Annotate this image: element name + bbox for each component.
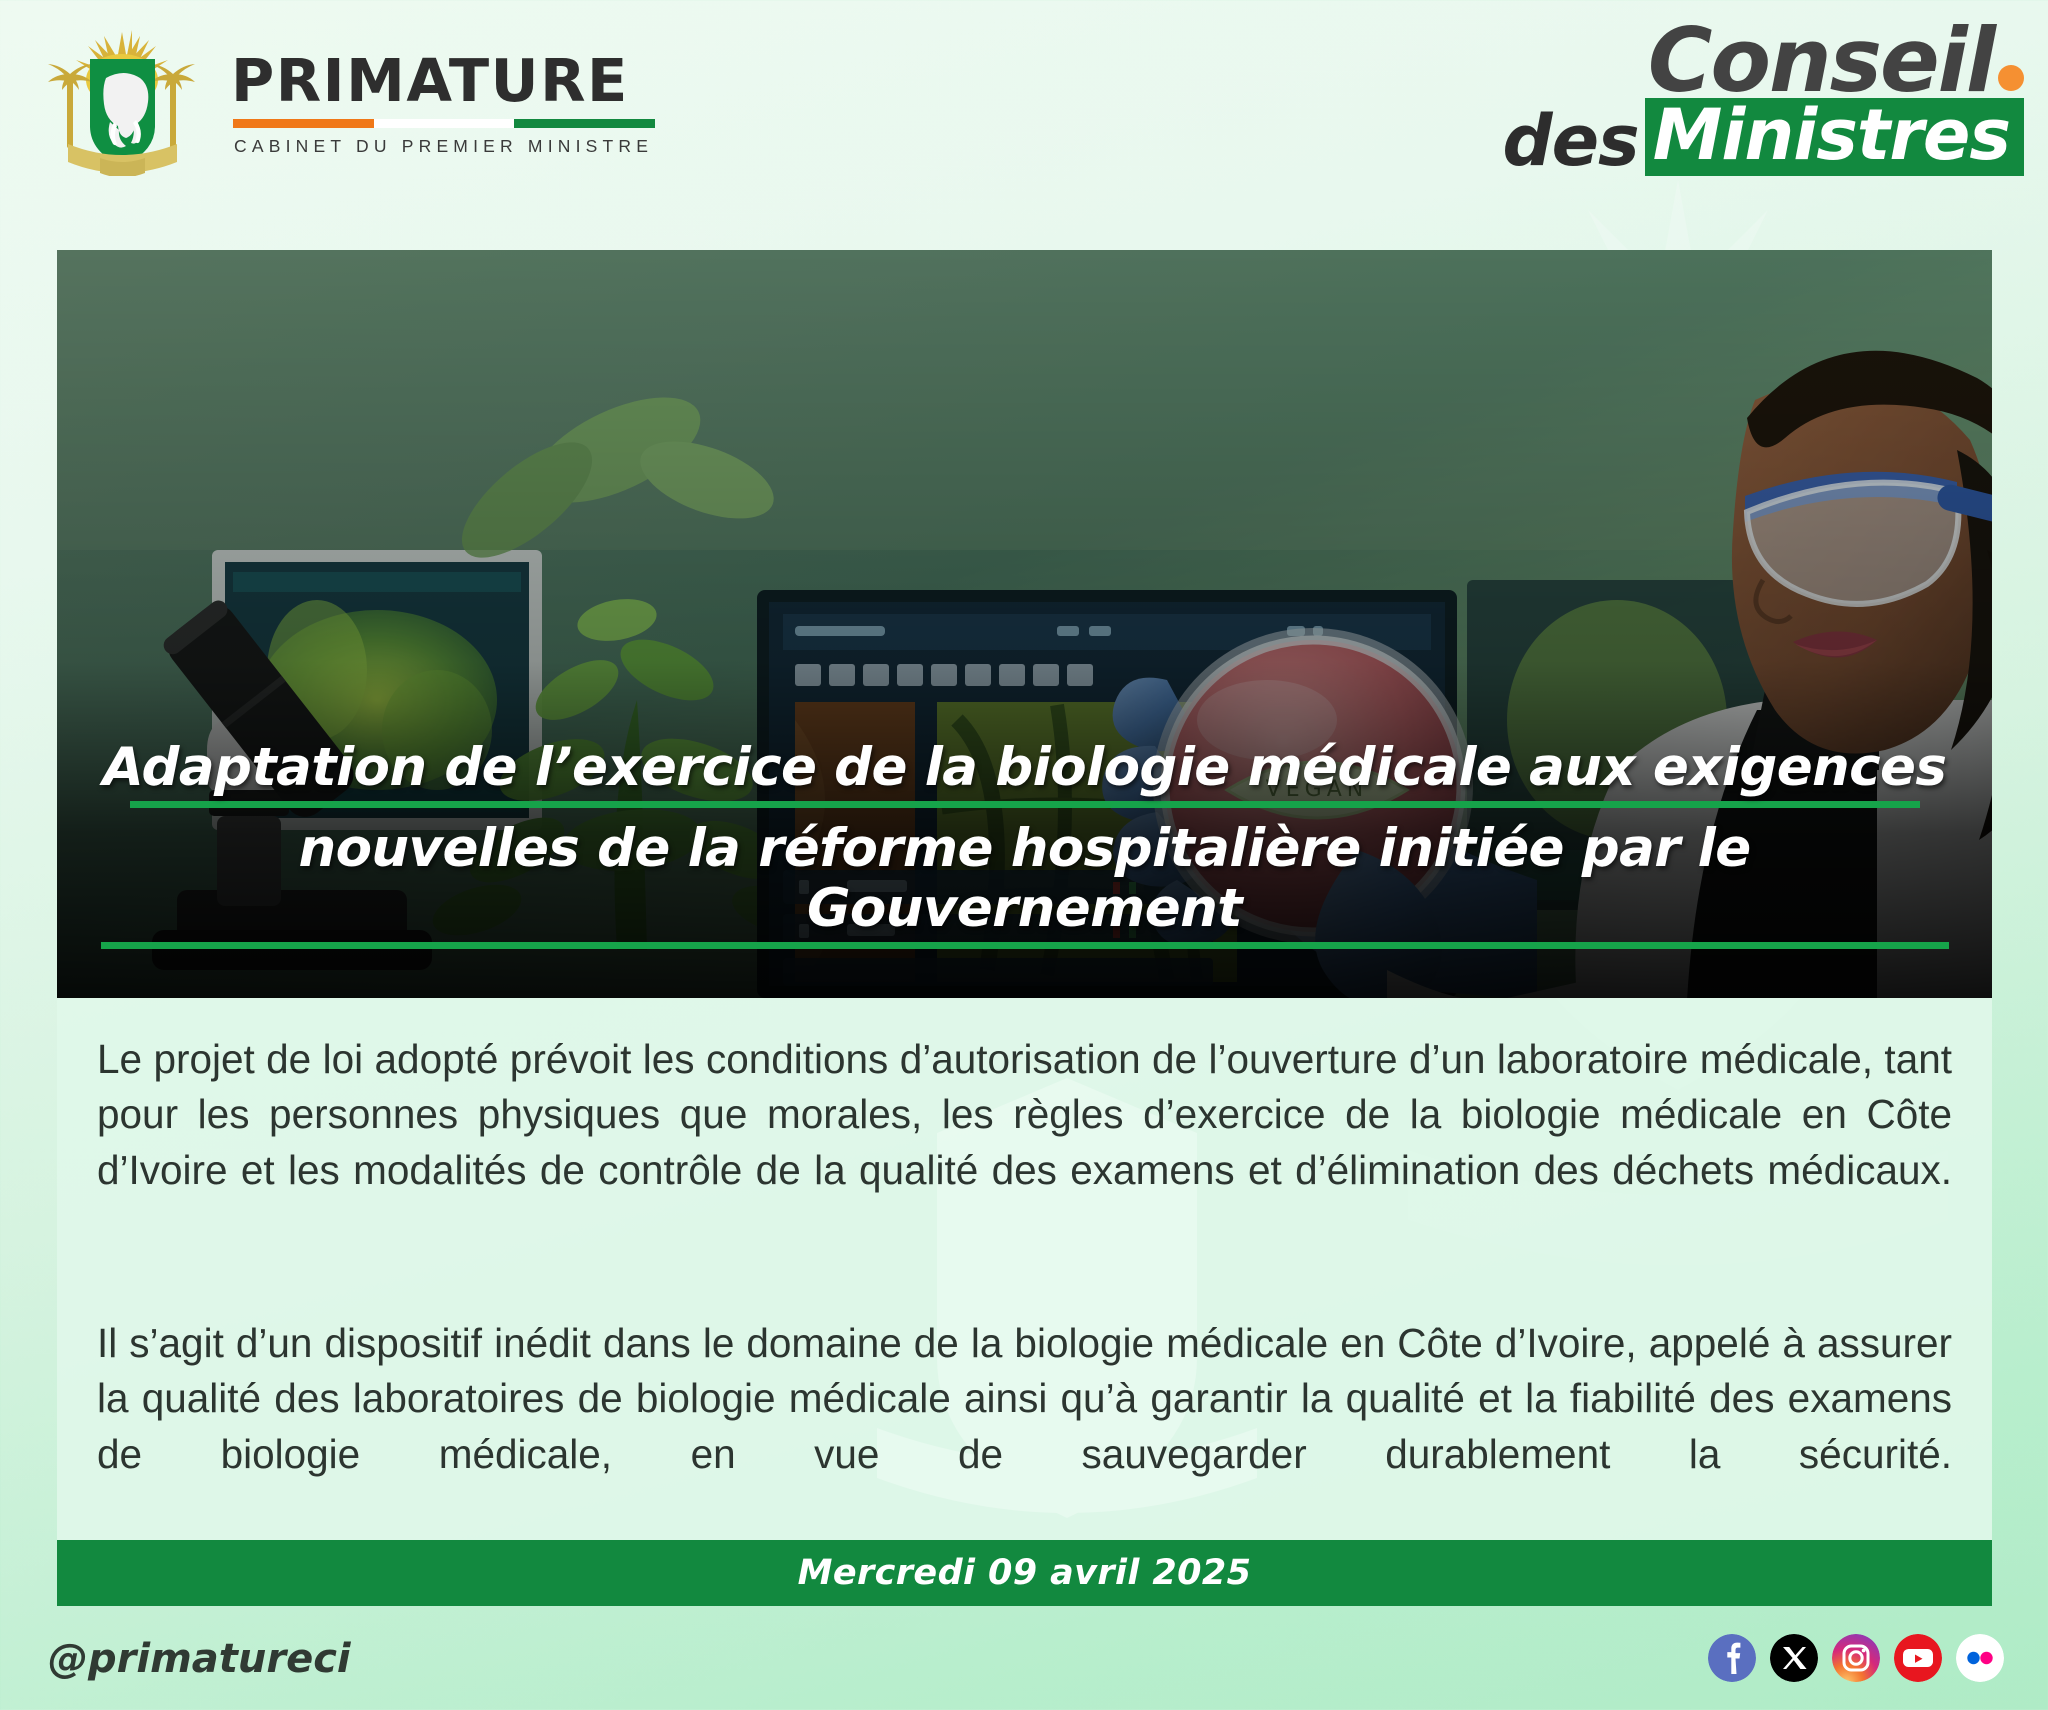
- body-text-panel: Le projet de loi adopté prévoit les cond…: [57, 998, 1992, 1540]
- x-twitter-icon[interactable]: [1770, 1634, 1818, 1682]
- headline-line-2: nouvelles de la réforme hospitalière ini…: [79, 819, 1970, 960]
- headline-underline-1: [130, 801, 1920, 808]
- conseil-word: Conseil: [1648, 18, 1994, 104]
- social-handle: @primatureci: [48, 1636, 351, 1682]
- page-footer: @primatureci: [0, 1606, 2048, 1710]
- social-links[interactable]: [1708, 1634, 2004, 1682]
- facebook-icon[interactable]: [1708, 1634, 1756, 1682]
- ivorian-flag-bar: [233, 119, 655, 128]
- headline-underline-2: [101, 942, 1949, 949]
- primature-wordmark: PRIMATURE CABINET DU PREMIER MINISTRE: [231, 45, 653, 157]
- date-text: Mercredi 09 avril 2025: [798, 1553, 1252, 1593]
- flickr-icon[interactable]: [1956, 1634, 2004, 1682]
- body-paragraph-1: Le projet de loi adopté prévoit les cond…: [97, 1032, 1952, 1254]
- body-paragraph-2: Il s’agit d’un dispositif inédit dans le…: [97, 1316, 1952, 1538]
- primature-subtitle: CABINET DU PREMIER MINISTRE: [234, 136, 653, 157]
- headline-line-1: Adaptation de l’exercice de la biologie …: [79, 738, 1970, 819]
- headline-overlay: Adaptation de l’exercice de la biologie …: [57, 738, 1992, 960]
- page-header: PRIMATURE CABINET DU PREMIER MINISTRE Co…: [0, 0, 2048, 190]
- hero-photo: VEGAN Adaptation de l’exercice de la bio…: [57, 250, 1992, 998]
- primature-title: PRIMATURE: [231, 51, 653, 110]
- instagram-icon[interactable]: [1832, 1634, 1880, 1682]
- orange-dot-icon: [1998, 65, 2024, 91]
- date-bar: Mercredi 09 avril 2025: [57, 1540, 1992, 1606]
- ivory-coast-coat-of-arms-icon: [40, 26, 205, 176]
- ministres-word: Ministres: [1645, 98, 2024, 176]
- youtube-icon[interactable]: [1894, 1634, 1942, 1682]
- conseil-des-ministres-logo: Conseil des Ministres: [1502, 18, 2024, 176]
- primature-logo: PRIMATURE CABINET DU PREMIER MINISTRE: [40, 26, 653, 176]
- des-word: des: [1502, 106, 1644, 176]
